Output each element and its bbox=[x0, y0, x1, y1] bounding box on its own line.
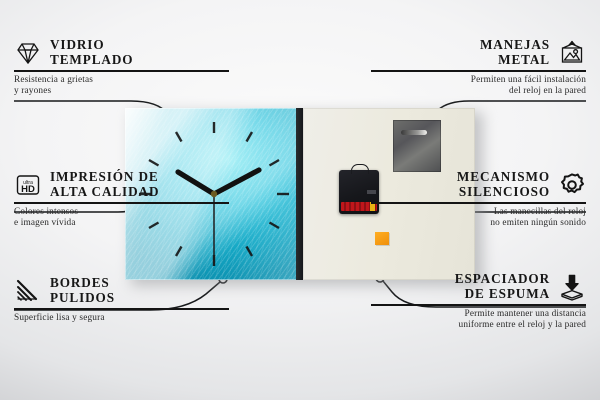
feature-divider bbox=[14, 202, 229, 204]
feature-divider bbox=[14, 308, 229, 310]
feature-desc-line1: Resistencia a grietas bbox=[14, 75, 93, 85]
feature-desc-line1: Permite mantener una distancia bbox=[465, 309, 586, 319]
feature-title-line1: IMPRESIÓN DE bbox=[50, 169, 159, 184]
foam-spacer-icon bbox=[558, 273, 586, 301]
diamond-icon bbox=[14, 39, 42, 67]
feature-desc-line2: no emiten ningún sonido bbox=[490, 218, 586, 228]
panel-side-edge bbox=[296, 108, 303, 280]
hanger-slot bbox=[401, 130, 427, 135]
feature-desc-line1: Colores intensos bbox=[14, 207, 78, 217]
feature-title-line2: DE ESPUMA bbox=[465, 286, 550, 301]
feature-divider bbox=[371, 70, 586, 72]
feature-title-line1: ESPACIADOR bbox=[455, 271, 550, 286]
feature-title-line1: VIDRIO bbox=[50, 37, 105, 52]
feature-desc-line1: Permiten una fácil instalación bbox=[471, 75, 586, 85]
ultra-hd-icon: ultra HD bbox=[14, 171, 42, 199]
feature-title-line2: TEMPLADO bbox=[50, 52, 133, 67]
feature-title-line1: MANEJAS bbox=[480, 37, 550, 52]
feature-mecanismo-silencioso: MECANISMO SILENCIOSO Las manecillas del … bbox=[371, 170, 586, 229]
feature-impresion-alta-calidad: ultra HD IMPRESIÓN DE ALTA CALIDAD Color… bbox=[14, 170, 229, 229]
infographic-canvas: VIDRIO TEMPLADO Resistencia a grietas y … bbox=[0, 0, 600, 400]
feature-divider bbox=[371, 304, 586, 306]
feature-title-line1: MECANISMO bbox=[457, 169, 550, 184]
polished-edges-icon bbox=[14, 277, 42, 305]
feature-desc-line2: del reloj en la pared bbox=[509, 86, 586, 96]
feature-title-line2: PULIDOS bbox=[50, 290, 115, 305]
feature-divider bbox=[371, 202, 586, 204]
svg-text:HD: HD bbox=[21, 184, 35, 195]
feature-title-line1: BORDES bbox=[50, 275, 110, 290]
feature-desc-line2: e imagen vívida bbox=[14, 218, 76, 228]
foam-spacer bbox=[375, 232, 389, 245]
mechanism-hook bbox=[351, 164, 369, 174]
feature-bordes-pulidos: BORDES PULIDOS Superficie lisa y segura bbox=[14, 276, 229, 324]
feature-espaciador-espuma: ESPACIADOR DE ESPUMA Permite mantener un… bbox=[371, 272, 586, 331]
feature-desc-line2: uniforme entre el reloj y la pared bbox=[459, 320, 586, 330]
feature-desc-line1: Las manecillas del reloj bbox=[494, 207, 586, 217]
feature-title-line2: SILENCIOSO bbox=[459, 184, 550, 199]
feature-title-line2: METAL bbox=[498, 52, 550, 67]
feature-vidrio-templado: VIDRIO TEMPLADO Resistencia a grietas y … bbox=[14, 38, 229, 97]
metal-hanger bbox=[393, 120, 441, 172]
feature-divider bbox=[14, 70, 229, 72]
feature-manejas-metal: MANEJAS METAL Permiten una fácil instala… bbox=[371, 38, 586, 97]
feature-desc-line1: Superficie lisa y segura bbox=[14, 313, 105, 323]
feature-desc-line2: y rayones bbox=[14, 86, 51, 96]
feature-title-line2: ALTA CALIDAD bbox=[50, 184, 159, 199]
gear-icon bbox=[558, 171, 586, 199]
wall-frame-icon bbox=[558, 39, 586, 67]
